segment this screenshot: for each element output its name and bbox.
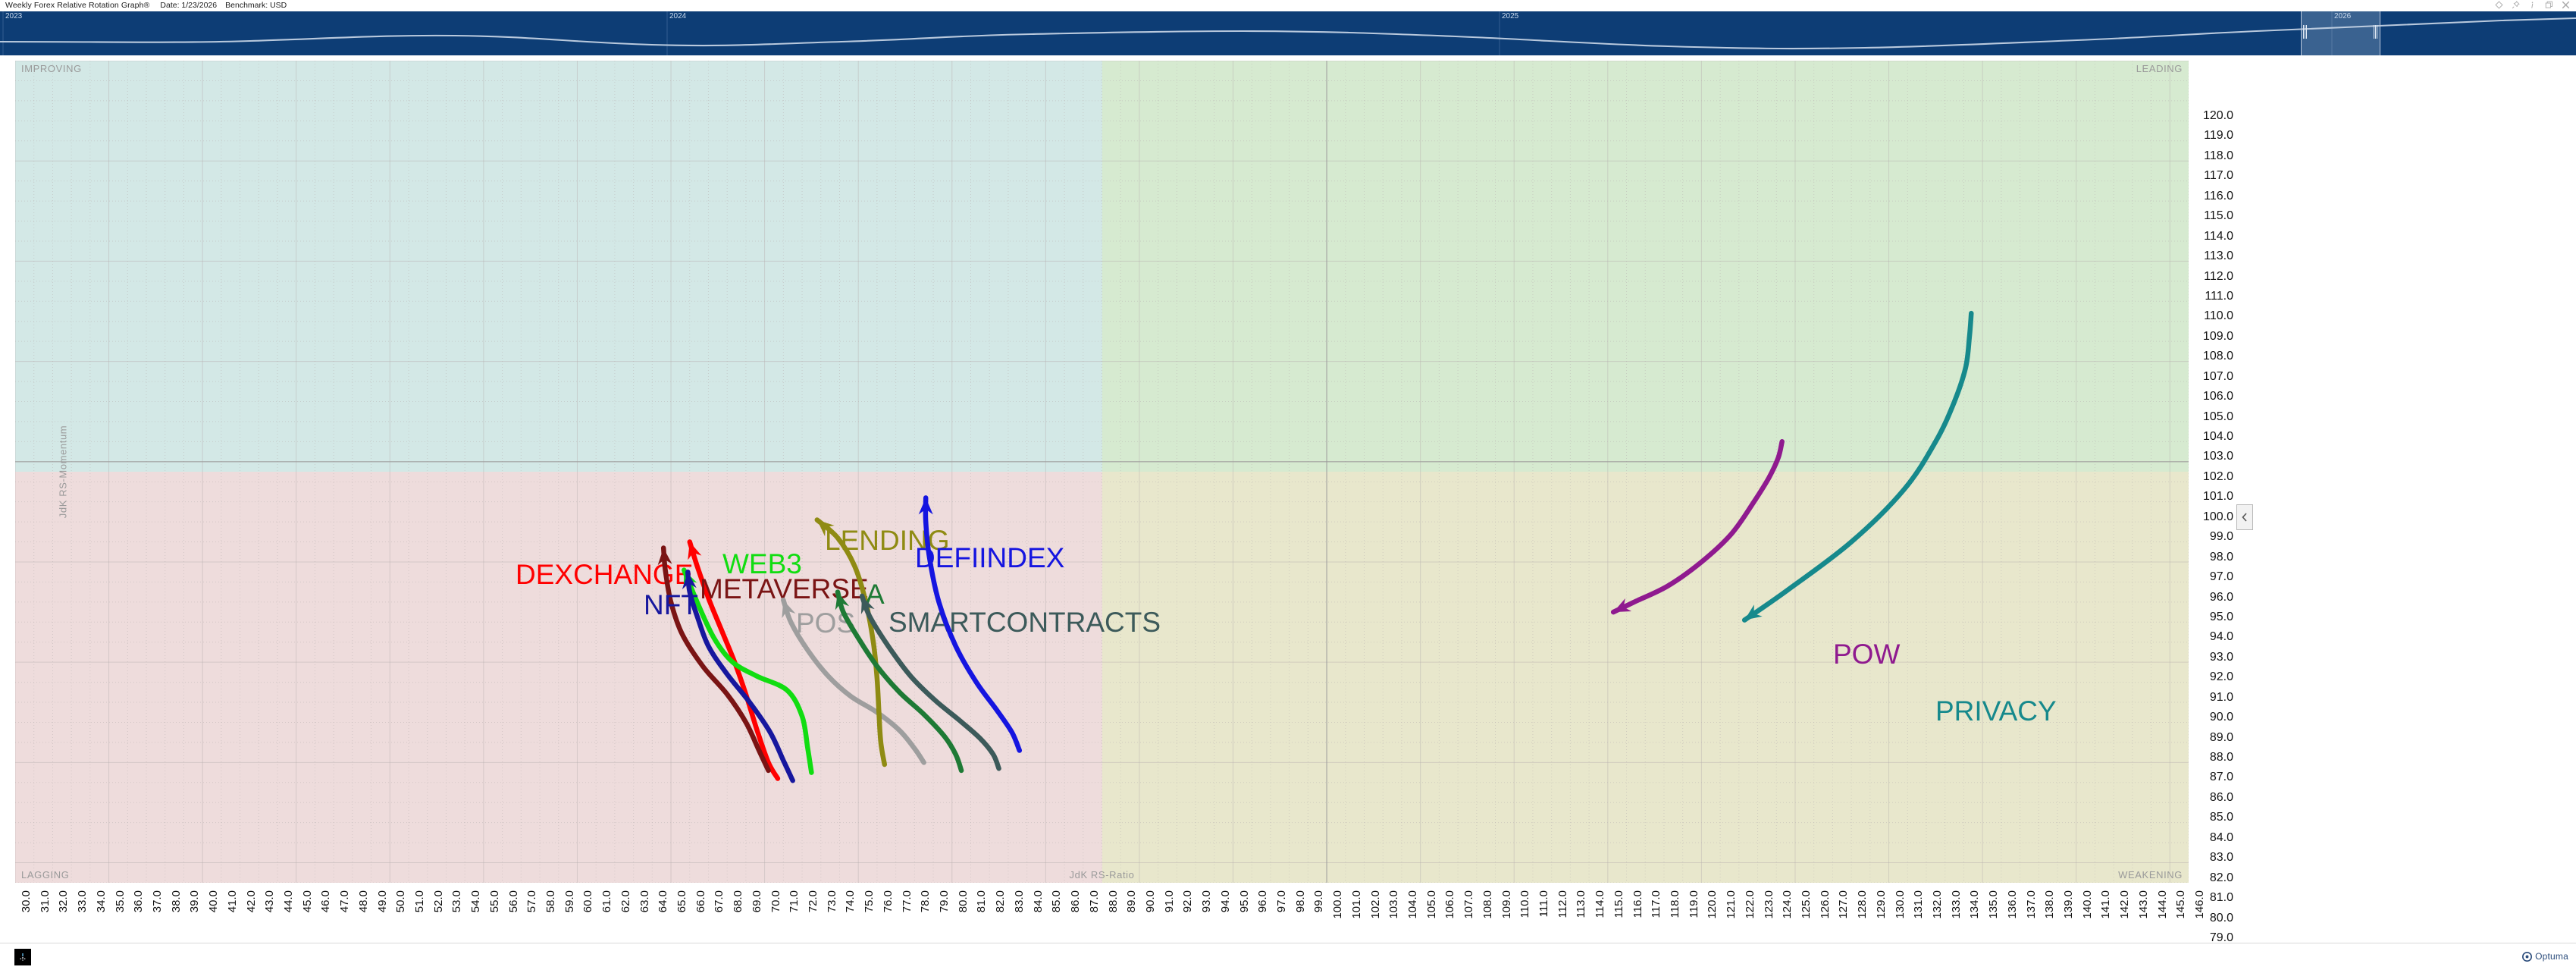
x-axis-tick-label: 46.0 <box>319 890 332 912</box>
y-axis-tick-label: 110.0 <box>2204 309 2233 323</box>
timeline-sparkline <box>0 11 2576 55</box>
x-axis-tick-label: 68.0 <box>732 890 744 912</box>
x-axis-tick-label: 85.0 <box>1050 890 1063 912</box>
rrg-plot-area[interactable]: IMPROVING LEADING LAGGING WEAKENING JdK … <box>15 61 2189 883</box>
x-axis-tick-label: 35.0 <box>114 890 127 912</box>
y-axis-tick-label: 112.0 <box>2204 270 2233 284</box>
x-axis-tick-label: 54.0 <box>469 890 482 912</box>
pin-icon[interactable] <box>2512 1 2520 9</box>
series-label[interactable]: SMARTCONTRACTS <box>888 607 1161 638</box>
y-axis-tick-label: 111.0 <box>2205 290 2233 303</box>
x-axis-tick-label: 98.0 <box>1294 890 1307 912</box>
x-axis-tick-label: 60.0 <box>581 890 594 912</box>
y-axis[interactable]: 120.0119.0118.0117.0116.0115.0114.0113.0… <box>2189 116 2265 943</box>
y-axis-tick-label: 115.0 <box>2204 209 2233 223</box>
x-axis-tick-label: 93.0 <box>1200 890 1213 912</box>
x-axis-tick-label: 47.0 <box>338 890 351 912</box>
y-axis-tick-label: 88.0 <box>2210 751 2233 764</box>
x-axis-tick-label: 133.0 <box>1950 890 1963 919</box>
x-axis-tick-label: 119.0 <box>1688 890 1700 918</box>
y-axis-tick-label: 96.0 <box>2210 591 2233 604</box>
x-axis-tick-label: 128.0 <box>1856 890 1869 919</box>
x-axis-tick-label: 32.0 <box>57 890 70 912</box>
x-axis-tick-label: 73.0 <box>826 890 838 912</box>
y-axis-tick-label: 105.0 <box>2203 410 2233 424</box>
x-axis-tick-label: 41.0 <box>226 890 239 912</box>
x-axis-tick-label: 116.0 <box>1631 890 1644 918</box>
y-axis-tick-label: 104.0 <box>2203 430 2233 444</box>
x-axis-tick-label: 114.0 <box>1594 890 1606 918</box>
x-axis-tick-label: 33.0 <box>76 890 89 912</box>
window-title-bar: Weekly Forex Relative Rotation Graph® Da… <box>0 0 2576 11</box>
x-axis-tick-label: 59.0 <box>563 890 576 912</box>
x-axis-tick-label: 44.0 <box>282 890 295 912</box>
x-axis-tick-label: 51.0 <box>413 890 426 912</box>
x-axis-tick-label: 117.0 <box>1650 890 1662 918</box>
x-axis-tick-label: 39.0 <box>188 890 201 912</box>
x-axis-tick-label: 138.0 <box>2043 890 2056 919</box>
x-axis-tick-label: 70.0 <box>769 890 782 912</box>
x-axis-tick-label: 61.0 <box>600 890 613 912</box>
x-axis-tick-label: 55.0 <box>488 890 501 912</box>
x-axis-tick-label: 50.0 <box>394 890 407 912</box>
y-axis-tick-label: 91.0 <box>2210 691 2233 705</box>
x-axis-tick-label: 71.0 <box>788 890 801 912</box>
x-axis-tick-label: 145.0 <box>2174 890 2187 919</box>
y-axis-tick-label: 101.0 <box>2203 490 2233 504</box>
x-axis-tick-label: 81.0 <box>975 890 988 912</box>
x-axis-tick-label: 95.0 <box>1238 890 1251 912</box>
benchmark-label: Benchmark: USD <box>225 1 287 10</box>
x-axis-tick-label: 30.0 <box>20 890 33 912</box>
timeline-grip-left[interactable] <box>2303 25 2308 39</box>
x-axis-tick-label: 86.0 <box>1069 890 1082 912</box>
x-axis-tick-label: 65.0 <box>675 890 688 912</box>
y-axis-tick-label: 95.0 <box>2210 611 2233 624</box>
x-axis-tick-label: 53.0 <box>450 890 463 912</box>
y-axis-tick-label: 89.0 <box>2210 731 2233 745</box>
y-axis-tick-label: 94.0 <box>2210 630 2233 644</box>
y-axis-tick-label: 82.0 <box>2210 871 2233 885</box>
x-axis-tick-label: 146.0 <box>2193 890 2206 919</box>
y-axis-tick-label: 114.0 <box>2204 230 2233 243</box>
x-axis-tick-label: 76.0 <box>882 890 895 912</box>
x-axis-tick-label: 88.0 <box>1107 890 1120 912</box>
timeline-year-label: 2026 <box>2334 12 2351 20</box>
x-axis-tick-label: 75.0 <box>863 890 876 912</box>
x-axis-tick-label: 134.0 <box>1968 890 1981 919</box>
x-axis-tick-label: 123.0 <box>1763 890 1775 919</box>
x-axis-tick-label: 104.0 <box>1406 890 1419 919</box>
y-axis-tick-label: 103.0 <box>2203 450 2233 463</box>
y-axis-tick-label: 118.0 <box>2204 149 2233 163</box>
x-axis-tick-label: 36.0 <box>132 890 145 912</box>
x-axis-tick-label: 77.0 <box>901 890 914 912</box>
x-axis-tick-label: 124.0 <box>1781 890 1794 919</box>
x-axis-tick-label: 107.0 <box>1462 890 1475 919</box>
x-axis-tick-label: 139.0 <box>2062 890 2075 919</box>
timeline-year-label: 2023 <box>5 12 22 20</box>
x-axis-tick-label: 66.0 <box>694 890 707 912</box>
y-axis-tick-label: 97.0 <box>2210 570 2233 584</box>
y-axis-tick-label: 92.0 <box>2210 670 2233 684</box>
x-axis-tick-label: 74.0 <box>844 890 857 912</box>
x-axis-tick-label: 52.0 <box>432 890 445 912</box>
x-axis-tick-label: 34.0 <box>95 890 108 912</box>
series-label[interactable]: NFT <box>644 589 698 620</box>
x-axis-tick-label: 142.0 <box>2118 890 2131 919</box>
chart-panel: IMPROVING LEADING LAGGING WEAKENING JdK … <box>0 55 2576 887</box>
status-indicator-icon[interactable] <box>14 949 31 965</box>
x-axis-tick-label: 69.0 <box>751 890 763 912</box>
x-axis-tick-label: 42.0 <box>245 890 258 912</box>
x-axis-tick-label: 125.0 <box>1800 890 1813 919</box>
x-axis-tick-label: 100.0 <box>1331 890 1344 919</box>
series-tail-line <box>1613 441 1782 612</box>
y-axis-tick-label: 108.0 <box>2203 350 2233 363</box>
x-axis-tick-label: 91.0 <box>1163 890 1176 912</box>
x-axis-tick-label: 109.0 <box>1500 890 1513 919</box>
y-axis-tick-label: 84.0 <box>2210 831 2233 845</box>
timeline-year-label: 2025 <box>1502 12 1518 20</box>
y-axis-tick-label: 98.0 <box>2210 551 2233 564</box>
x-axis-tick-label: 108.0 <box>1481 890 1494 919</box>
timeline-year-label: 2024 <box>669 12 686 20</box>
series-tail-line <box>817 520 885 765</box>
y-axis-tick-label: 117.0 <box>2204 169 2233 183</box>
x-axis-tick-label: 131.0 <box>1912 890 1925 919</box>
x-axis-tick-label: 103.0 <box>1387 890 1400 919</box>
y-axis-tick-label: 116.0 <box>2204 190 2233 203</box>
x-axis-tick-label: 80.0 <box>957 890 970 912</box>
x-axis-tick-label: 64.0 <box>657 890 669 912</box>
x-axis-tick-label: 57.0 <box>525 890 538 912</box>
page-title: Weekly Forex Relative Rotation Graph® <box>5 1 149 10</box>
timeline-grip-right[interactable] <box>2374 25 2379 39</box>
y-axis-tick-label: 100.0 <box>2203 510 2233 524</box>
y-axis-tick-label: 81.0 <box>2210 891 2233 905</box>
restore-icon[interactable] <box>2545 1 2553 9</box>
x-axis-tick-label: 143.0 <box>2137 890 2150 919</box>
info-icon[interactable] <box>2528 1 2537 9</box>
x-axis-tick-label: 90.0 <box>1144 890 1157 912</box>
y-axis-tick-label: 85.0 <box>2210 811 2233 824</box>
y-axis-tick-label: 99.0 <box>2210 530 2233 544</box>
y-axis-tick-label: 86.0 <box>2210 791 2233 805</box>
x-axis-tick-label: 40.0 <box>207 890 220 912</box>
x-axis-tick-label: 113.0 <box>1575 890 1587 918</box>
x-axis-tick-label: 83.0 <box>1013 890 1026 912</box>
series-arrow-head <box>1610 598 1631 619</box>
y-axis-value-marker[interactable] <box>2236 504 2253 530</box>
x-axis-tick-label: 135.0 <box>1987 890 2000 919</box>
x-axis-tick-label: 105.0 <box>1425 890 1438 919</box>
date-label: Date: 1/23/2026 <box>160 1 217 10</box>
x-axis-tick-label: 129.0 <box>1875 890 1888 919</box>
close-icon[interactable] <box>2562 1 2570 9</box>
x-axis-tick-label: 89.0 <box>1125 890 1138 912</box>
x-axis-tick-label: 118.0 <box>1669 890 1681 918</box>
x-axis-tick-label: 79.0 <box>938 890 951 912</box>
x-axis-tick-label: 137.0 <box>2025 890 2038 919</box>
brand-name: Optuma <box>2535 951 2568 962</box>
diamond-icon[interactable] <box>2495 1 2503 9</box>
x-axis-tick-label: 136.0 <box>2006 890 2019 919</box>
x-axis-tick-label: 127.0 <box>1837 890 1850 919</box>
x-axis-tick-label: 121.0 <box>1725 890 1738 919</box>
y-axis-tick-label: 90.0 <box>2210 711 2233 724</box>
y-axis-tick-label: 109.0 <box>2203 330 2233 344</box>
x-axis-tick-label: 37.0 <box>151 890 164 912</box>
optuma-mark-icon <box>2522 952 2532 962</box>
x-axis-tick-label: 49.0 <box>376 890 389 912</box>
x-axis-tick-label: 43.0 <box>263 890 276 912</box>
status-bar: Optuma <box>0 943 2576 970</box>
x-axis-tick-label: 115.0 <box>1612 890 1625 918</box>
x-axis-tick-label: 87.0 <box>1088 890 1101 912</box>
window-controls <box>2495 1 2570 9</box>
x-axis-tick-label: 132.0 <box>1931 890 1944 919</box>
y-axis-tick-label: 106.0 <box>2203 390 2233 403</box>
x-axis-tick-label: 141.0 <box>2099 890 2112 919</box>
y-axis-tick-label: 93.0 <box>2210 651 2233 664</box>
x-axis-tick-label: 140.0 <box>2081 890 2094 919</box>
x-axis-tick-label: 99.0 <box>1312 890 1325 912</box>
x-axis-tick-label: 31.0 <box>39 890 52 912</box>
y-axis-tick-label: 107.0 <box>2203 370 2233 384</box>
x-axis-tick-label: 92.0 <box>1181 890 1194 912</box>
x-axis-tick-label: 78.0 <box>919 890 932 912</box>
x-axis-tick-label: 126.0 <box>1819 890 1832 919</box>
x-axis-tick-label: 62.0 <box>619 890 632 912</box>
y-axis-tick-label: 83.0 <box>2210 851 2233 865</box>
x-axis-tick-label: 144.0 <box>2156 890 2169 919</box>
x-axis[interactable]: 30.031.032.033.034.035.036.037.038.039.0… <box>15 889 2189 943</box>
x-axis-tick-label: 130.0 <box>1894 890 1907 919</box>
y-axis-tick-label: 80.0 <box>2210 912 2233 925</box>
x-axis-tick-label: 110.0 <box>1518 890 1531 918</box>
brand-logo: Optuma <box>2522 951 2568 962</box>
x-axis-tick-label: 111.0 <box>1537 890 1550 917</box>
x-axis-tick-label: 122.0 <box>1744 890 1757 919</box>
y-axis-tick-label: 113.0 <box>2204 250 2233 263</box>
series-label[interactable]: DEFIINDEX <box>915 542 1064 573</box>
x-axis-tick-label: 120.0 <box>1706 890 1719 919</box>
x-axis-tick-label: 45.0 <box>301 890 314 912</box>
x-axis-tick-label: 63.0 <box>638 890 651 912</box>
x-axis-tick-label: 112.0 <box>1556 890 1569 918</box>
x-axis-tick-label: 72.0 <box>807 890 819 912</box>
series-tail-line <box>1744 313 1971 620</box>
x-axis-tick-label: 106.0 <box>1443 890 1456 919</box>
series-label[interactable]: POW <box>1833 639 1900 670</box>
x-axis-tick-label: 102.0 <box>1369 890 1382 919</box>
x-axis-tick-label: 56.0 <box>507 890 520 912</box>
y-axis-tick-label: 87.0 <box>2210 771 2233 784</box>
x-axis-tick-label: 94.0 <box>1219 890 1232 912</box>
timeline-scrubber[interactable]: 2023202420252026 <box>0 11 2576 55</box>
series-label[interactable]: PRIVACY <box>1935 695 2057 727</box>
series-trace[interactable]: SMARTCONTRACTS <box>855 594 1161 769</box>
x-axis-tick-label: 58.0 <box>544 890 557 912</box>
x-axis-tick-label: 96.0 <box>1256 890 1269 912</box>
x-axis-tick-label: 97.0 <box>1275 890 1288 912</box>
series-trace[interactable]: POW <box>1610 441 1900 670</box>
y-axis-tick-label: 120.0 <box>2203 109 2233 123</box>
y-axis-tick-label: 102.0 <box>2203 470 2233 484</box>
x-axis-tick-label: 101.0 <box>1350 890 1363 919</box>
x-axis-tick-label: 82.0 <box>994 890 1007 912</box>
y-axis-tick-label: 119.0 <box>2204 129 2233 143</box>
series-traces-layer: DEXCHANGEWEB3METAVERSENFTPOSLENDINGASMAR… <box>15 61 2189 883</box>
x-axis-tick-label: 48.0 <box>357 890 370 912</box>
x-axis-tick-label: 84.0 <box>1032 890 1045 912</box>
x-axis-tick-label: 67.0 <box>713 890 725 912</box>
x-axis-tick-label: 38.0 <box>170 890 183 912</box>
